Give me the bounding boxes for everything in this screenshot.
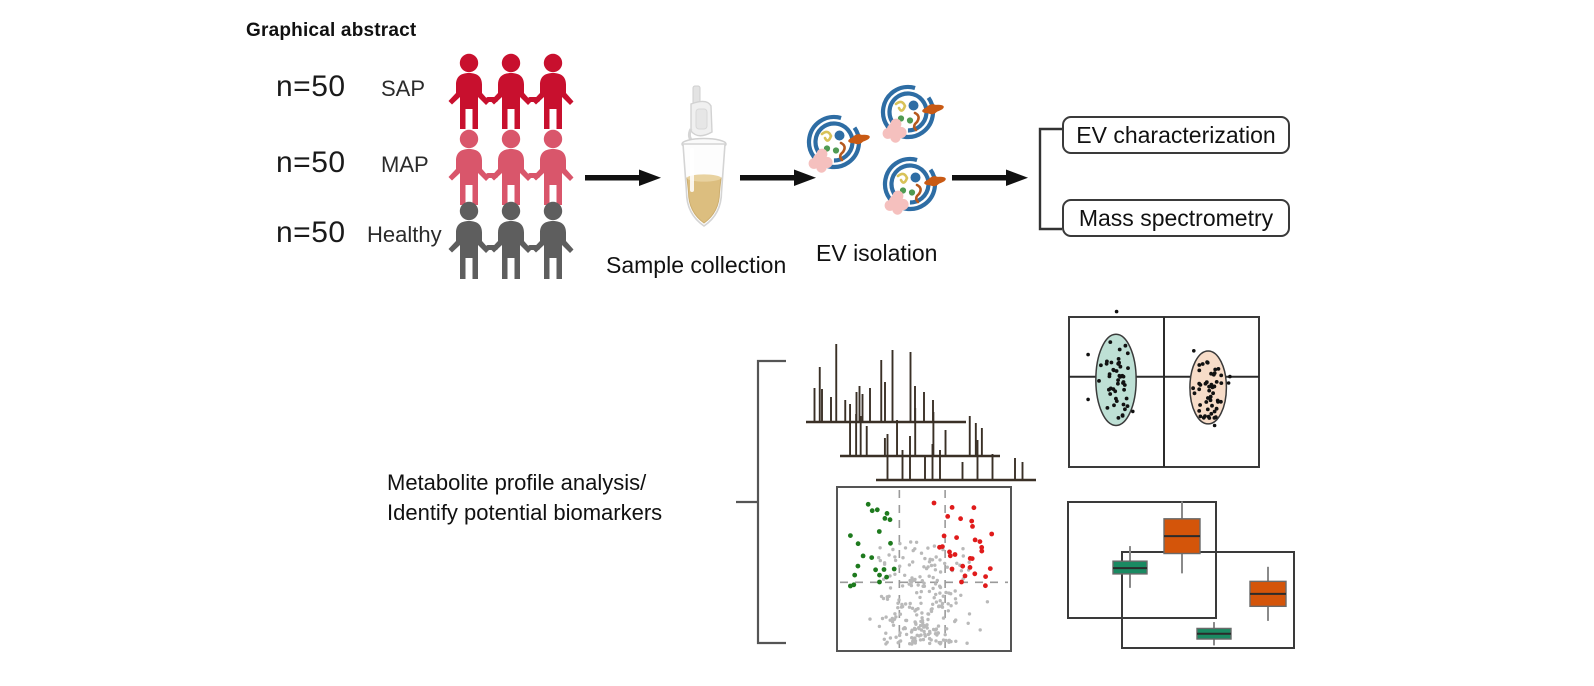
chart-box-plots	[1066, 488, 1296, 656]
analysis-bracket	[736, 358, 792, 646]
output-box-mass-spectrometry[interactable]: Mass spectrometry	[1062, 199, 1290, 237]
extracellular-vesicle-icon	[875, 149, 947, 219]
people-group-healthy	[448, 200, 574, 282]
graphical-abstract-canvas: Graphical abstract n=50 SAP n=50 MAP n=5…	[0, 0, 1594, 686]
cohort-label-map: MAP	[381, 152, 429, 178]
extracellular-vesicle-icon	[799, 107, 871, 177]
sample-collection-illustration	[663, 84, 743, 234]
output-label-mass-spectrometry: Mass spectrometry	[1079, 205, 1273, 232]
arrow-right-icon	[585, 166, 663, 190]
chart-mass-spectrum	[804, 314, 1036, 480]
extracellular-vesicle-group-icon	[800, 80, 960, 220]
analysis-caption: Metabolite profile analysis/ Identify po…	[387, 468, 717, 528]
analysis-caption-line-1: Metabolite profile analysis/	[387, 468, 717, 498]
step-label-sample-collection: Sample collection	[606, 252, 786, 279]
people-icon-healthy	[448, 200, 574, 282]
arrow-right-icon	[952, 166, 1030, 190]
people-group-sap	[448, 52, 574, 130]
mass-spectrum-plot	[804, 314, 1036, 480]
extracellular-vesicle-icon	[873, 77, 945, 147]
output-bracket	[1032, 126, 1066, 232]
analysis-caption-line-2: Identify potential biomarkers	[387, 498, 717, 528]
cohort-count-map: n=50	[276, 146, 346, 180]
people-group-map	[448, 128, 574, 206]
output-label-ev-characterization: EV characterization	[1076, 122, 1275, 149]
ev-isolation-illustration	[800, 80, 960, 220]
output-box-ev-characterization[interactable]: EV characterization	[1062, 116, 1290, 154]
workflow-arrow-3	[952, 166, 1030, 190]
step-label-ev-isolation: EV isolation	[816, 240, 937, 267]
workflow-arrow-1	[585, 166, 663, 190]
pca-scores-plot	[1068, 316, 1260, 468]
page-title: Graphical abstract	[246, 20, 416, 42]
cohort-label-sap: SAP	[381, 76, 425, 102]
cohort-count-sap: n=50	[276, 70, 346, 104]
right-brace-icon	[1032, 126, 1066, 232]
volcano-plot	[836, 486, 1012, 652]
chart-volcano	[836, 486, 1012, 652]
box-plot-panels	[1066, 488, 1296, 656]
chart-pca-scores	[1068, 316, 1260, 468]
microcentrifuge-tube-icon	[663, 84, 743, 234]
left-brace-icon	[736, 358, 792, 646]
people-icon-sap	[448, 52, 574, 130]
cohort-count-healthy: n=50	[276, 216, 346, 250]
people-icon-map	[448, 128, 574, 206]
cohort-label-healthy: Healthy	[367, 222, 442, 248]
